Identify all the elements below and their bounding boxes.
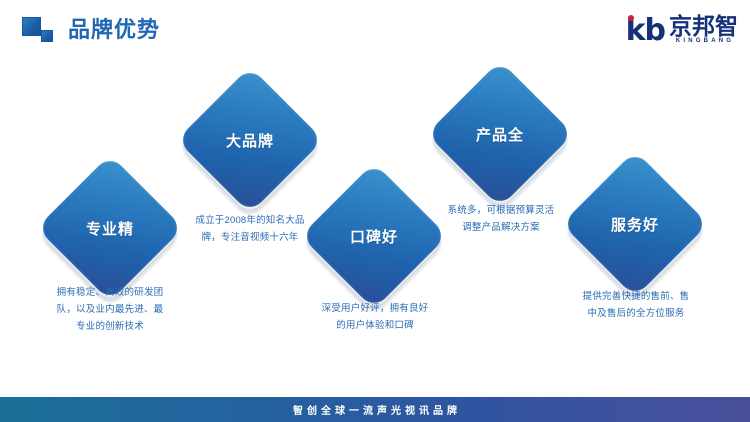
brand-logo: kb 京邦智 KINGBANG bbox=[626, 14, 738, 46]
logo-text-group: 京邦智 KINGBANG bbox=[669, 14, 738, 46]
feature-diamond-5[interactable]: 服务好 bbox=[583, 172, 687, 276]
logo-dot-icon bbox=[628, 15, 634, 21]
logo-english-name: KINGBANG bbox=[673, 37, 734, 45]
feature-caption-3: 深受用户好评，拥有良好的用户体验和口碑 bbox=[288, 300, 462, 334]
feature-diamond-1[interactable]: 专业精 bbox=[58, 176, 162, 280]
feature-diamond-3[interactable]: 口碑好 bbox=[322, 184, 426, 288]
diamond-face bbox=[36, 154, 183, 301]
logo-chinese-name: 京邦智 bbox=[669, 14, 738, 38]
diamond-face bbox=[561, 150, 708, 297]
feature-caption-4: 系统多，可根据预算灵活调整产品解决方案 bbox=[413, 202, 589, 236]
diamond-face bbox=[176, 66, 323, 213]
feature-diamond-2[interactable]: 大品牌 bbox=[198, 88, 302, 192]
header-decoration bbox=[22, 17, 68, 47]
feature-diamond-4[interactable]: 产品全 bbox=[448, 82, 552, 186]
diamond-face bbox=[426, 60, 573, 207]
logo-wordmark: kb bbox=[626, 16, 665, 46]
diamond-face bbox=[300, 162, 447, 309]
page-title: 品牌优势 bbox=[68, 15, 160, 45]
footer-bar: 智创全球一流声光视讯品牌 bbox=[0, 397, 750, 422]
slide-canvas: 品牌优势 kb 京邦智 KINGBANG 专业精 拥有稳定、高效的研发团队，以及… bbox=[0, 0, 750, 422]
header-square-small bbox=[41, 30, 53, 42]
header-square-large bbox=[22, 17, 41, 36]
feature-caption-5: 提供完善快捷的售前、售中及售后的全方位服务 bbox=[548, 288, 724, 322]
feature-caption-1: 拥有稳定、高效的研发团队，以及业内最先进、最专业的创新技术 bbox=[24, 284, 196, 335]
footer-slogan: 智创全球一流声光视讯品牌 bbox=[289, 402, 461, 417]
